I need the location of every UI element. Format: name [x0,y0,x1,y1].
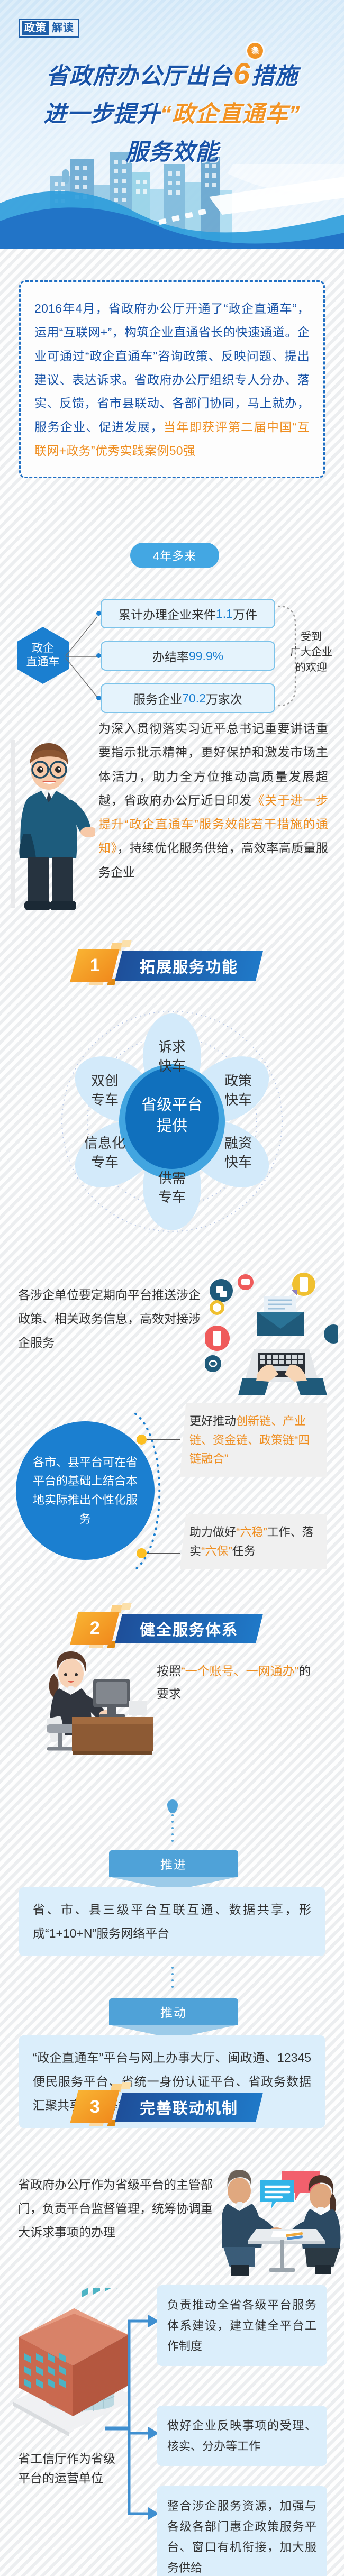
intro-body-text: 2016年4月，省政府办公厅开通了“政企直通车”，运用“互联网+”，构筑企业直通… [34,302,310,434]
section-3-number-badge: 3 [70,2090,119,2123]
stat-3-value: 70.2 [182,691,206,706]
title-number-unit: 条 [247,43,263,59]
purpose-paragraph-block: 为深入贯彻落实习近平总书记重要讲话重要指示批示精神，更好保护和激发市场主体活力，… [0,717,344,934]
stat-1-value: 1.1 [216,607,233,621]
dotted-arc-decoration [129,1410,182,1574]
intro-card: 2016年4月，省政府办公厅开通了“政企直通车”，运用“互联网+”，构筑企业直通… [19,280,325,478]
stat-3-suffix: 万家次 [206,689,242,707]
push-policy-block: 各涉企单位要定期向平台推送涉企政策、相关政务信息，高效对接涉企服务 [0,1269,344,1396]
section-3-title-bar: 完善联动机制 [115,2093,263,2122]
section-2-title: 健全服务体系 [140,1618,238,1640]
businessman-illustration [11,737,95,917]
laptop-icons-illustration [205,1269,338,1396]
flow-dots-2 [171,1967,174,1992]
section-2-chip-2 [121,1603,131,1610]
meeting-discussion-illustration [222,2163,342,2277]
callout-six-stabilities: 助力做好“六稳”工作、落实“六保”任务 [180,1514,327,1569]
section-2-number-badge: 2 [70,1612,119,1645]
hex-label-line-1: 政企 [32,642,54,655]
one-account-requirement: 按照“一个账号、一网通办”的要求 [157,1660,321,1705]
svg-text:双创: 双创 [91,1073,119,1089]
duty-item-3: 整合涉企服务资源，加强与各级各部门惠企政策服务平台、窗口有机衔接，加大服务供给 [157,2486,327,2576]
title-line-2: 进一步提升“政企直通车” [0,96,344,129]
period-pill: 4年多来 [130,543,219,568]
flow-head-highlight: “一个账号、一网通办” [181,1664,298,1678]
flow-ribbon-2: 推动 [109,1998,238,2025]
callout-bullet-2 [137,1548,147,1558]
svg-text:提供: 提供 [157,1117,187,1135]
title-line-1: 省政府办公厅出台6条措施 [0,57,344,90]
header-wave-decoration [0,164,344,249]
welcome-note: 受到 广大企业 的欢迎 [284,629,339,675]
hexagon-platform-label: 政企 直通车 [17,627,69,684]
section-1-number-badge: 1 [70,949,119,982]
stat-item-3: 服务企业70.2万家次 [101,683,275,713]
flow-ribbon-1: 推进 [109,1850,238,1877]
flow-box-1: 省、市、县三级平台互联互通、数据共享，形成“1+10+N”服务网络平台 [19,1887,325,1956]
service-petal-diagram: 省级平台 提供 诉求 快车 政策 快车 融资 快车 供需 专车 信息化 专车 双… [0,989,344,1238]
branch-connector-arrows [95,2274,164,2571]
stat-1-suffix: 万件 [233,605,257,623]
operating-unit-block: 省工信厅作为省级平台的运营单位 负责推动全省各级平台服务体系建设，建立健全平台工… [0,2274,344,2571]
welcome-note-line-2: 广大企业 [284,645,339,660]
duty-item-2: 做好企业反映事项的受理、核实、分办等工作 [157,2406,327,2466]
statistics-section: 4年多来 政企 直通车 累计办理企业来件1.1万件 办结率99.9% 服务企业7… [0,529,344,719]
svg-text:快车: 快车 [224,1092,252,1108]
callout-2-part-c: 任务 [232,1545,256,1558]
section-3-title: 完善联动机制 [140,2096,238,2118]
badge-secondary-label: 解读 [49,21,77,35]
section-1-chip-2 [121,940,131,947]
callout-chain-integration: 更好推动创新链、产业链、资金链、政策链“四链融合” [180,1403,327,1477]
section-2-flow: 按照“一个账号、一网通办”的要求 推进 省、市、县三级平台互联互通、数据共享，形… [0,1656,344,2073]
section-1-number: 1 [90,955,100,976]
page-title: 省政府办公厅出台6条措施 进一步提升“政企直通车” 服务效能 [0,57,344,167]
badge-primary-label: 政策 [22,21,49,35]
stat-1-prefix: 累计办理企业来件 [119,605,216,623]
stat-2-prefix: 办结率 [152,647,189,665]
svg-text:供需: 供需 [158,1170,186,1186]
welcome-note-line-1: 受到 [284,629,339,645]
stat-item-2: 办结率99.9% [101,641,275,671]
svg-text:专车: 专车 [91,1154,119,1170]
section-3-paragraph-block: 省政府办公厅作为省级平台的主管部门，负责平台监督管理，统筹协调重大诉求事项的办理 [0,2163,344,2274]
title-line-3: 服务效能 [0,134,344,167]
flow-head-prefix: 按照 [157,1664,181,1678]
intro-paragraph: 2016年4月，省政府办公厅开通了“政企直通车”，运用“互联网+”，构筑企业直通… [34,297,310,463]
duty-item-1: 负责推动全省各级平台服务体系建设，建立健全平台工作制度 [157,2285,327,2366]
flow-dots-1 [171,1814,174,1846]
section-1-title-bar: 拓展服务功能 [115,951,263,981]
callout-2-highlight-2: “六保” [201,1545,232,1558]
office-worker-illustration [40,1650,157,1761]
section-3-number: 3 [90,2097,100,2117]
section-2-number: 2 [90,1618,100,1639]
svg-text:快车: 快车 [158,1058,186,1074]
svg-text:快车: 快车 [224,1154,252,1170]
svg-text:专车: 专车 [158,1189,186,1205]
section-2-heading: 2 健全服务体系 [74,1605,280,1651]
callout-2-highlight-1: “六稳” [236,1525,267,1539]
svg-text:专车: 专车 [91,1092,119,1108]
svg-text:诉求: 诉求 [158,1039,186,1055]
callout-1-prefix: 更好推动 [189,1414,236,1428]
title-line-1-suffix: 措施 [251,63,298,89]
svg-text:省级平台: 省级平台 [141,1096,203,1113]
callout-bullet-1 [137,1435,147,1445]
stat-3-prefix: 服务企业 [133,689,182,707]
title-line-1-prefix: 省政府办公厅出台 [46,63,232,89]
stat-item-1: 累计办理企业来件1.1万件 [101,599,275,628]
welcome-note-line-3: 的欢迎 [284,660,339,675]
purpose-paragraph: 为深入贯彻落实习近平总书记重要讲话重要指示批示精神，更好保护和激发市场主体活力，… [98,717,328,884]
svg-text:信息化: 信息化 [84,1135,125,1151]
section-3-chip-2 [121,2082,131,2089]
section-1-title: 拓展服务功能 [140,955,238,977]
section-3-paragraph: 省政府办公厅作为省级平台的主管部门，负责平台监督管理，统筹协调重大诉求事项的办理 [18,2173,220,2244]
title-line-2-prefix: 进一步提升 [44,102,160,127]
svg-text:政策: 政策 [224,1073,252,1089]
purpose-text-part-2: ，持续优化服务供给，高效率高质量服务企业 [98,841,328,879]
petal-diagram-svg: 省级平台 提供 诉求 快车 政策 快车 融资 快车 供需 专车 信息化 专车 双… [0,989,344,1238]
section-2-title-bar: 健全服务体系 [115,1614,263,1643]
local-platform-block: 各市、县平台可在省平台的基础上结合本地实际推出个性化服务 更好推动创新链、产业链… [0,1399,344,1558]
policy-interpretation-badge: 政策 解读 [19,19,79,38]
title-measure-count: 6条 [232,57,251,90]
infographic-page: 政策 解读 省政府办公厅出台6条措施 进一步提升“政企直通车” 服务效能 [0,0,344,2576]
title-number-value: 6 [233,57,250,90]
svg-text:融资: 融资 [224,1135,252,1151]
flow-drop-marker-1 [167,1799,178,1813]
section-1-heading: 1 拓展服务功能 [74,943,280,988]
section-3-heading: 3 完善联动机制 [74,2084,280,2130]
stat-2-value: 99.9% [189,649,223,663]
callout-2-part-a: 助力做好 [189,1525,236,1539]
hex-label-line-2: 直通车 [26,655,60,669]
header-banner: 政策 解读 省政府办公厅出台6条措施 进一步提升“政企直通车” 服务效能 [0,0,344,249]
title-line-2-highlight: “政企直通车” [160,102,301,127]
push-policy-text: 各涉企单位要定期向平台推送涉企政策、相关政务信息，高效对接涉企服务 [18,1283,206,1355]
